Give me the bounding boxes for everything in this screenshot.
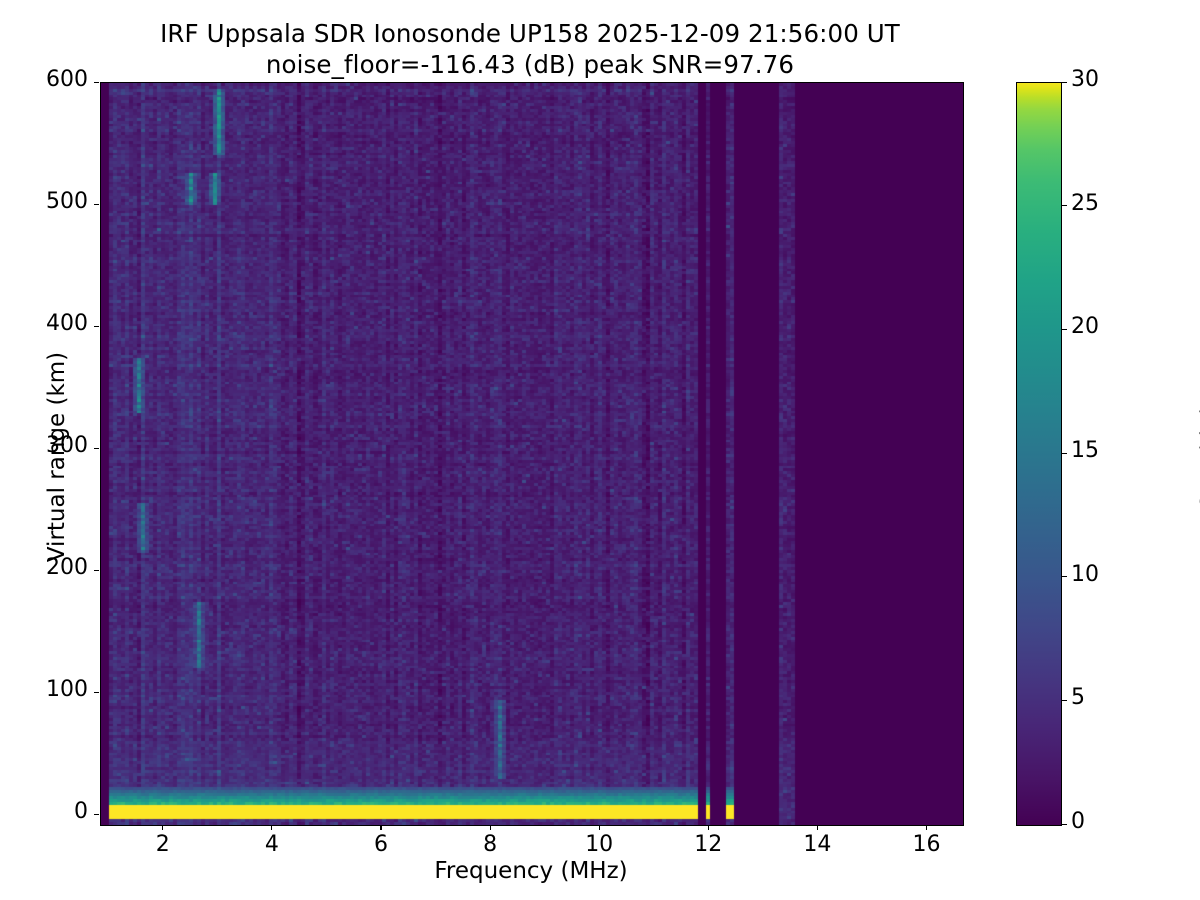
ionogram-axes [100, 82, 964, 826]
colorbar-tick-label: 10 [1071, 562, 1099, 587]
y-tick-mark [94, 814, 99, 815]
colorbar-tick-label: 0 [1071, 809, 1085, 834]
y-tick-label: 600 [0, 67, 88, 92]
x-tick-mark [271, 825, 272, 830]
colorbar-tick-label: 30 [1071, 67, 1099, 92]
title-line-1: IRF Uppsala SDR Ionosonde UP158 2025-12-… [0, 18, 1060, 49]
x-tick-label: 14 [787, 832, 847, 857]
colorbar-tick-label: 15 [1071, 438, 1099, 463]
x-tick-mark [162, 825, 163, 830]
y-tick-mark [94, 692, 99, 693]
x-tick-mark [817, 825, 818, 830]
colorbar-tick-label: 20 [1071, 314, 1099, 339]
colorbar-tick-label: 5 [1071, 685, 1085, 710]
ionogram-figure: IRF Uppsala SDR Ionosonde UP158 2025-12-… [0, 0, 1200, 900]
y-tick-mark [94, 570, 99, 571]
x-tick-mark [708, 825, 709, 830]
snr-colorbar [1016, 82, 1062, 826]
y-tick-mark [94, 448, 99, 449]
x-tick-label: 8 [460, 832, 520, 857]
x-axis-label: Frequency (MHz) [100, 858, 962, 884]
x-tick-mark [926, 825, 927, 830]
colorbar-tick-mark [1062, 576, 1067, 577]
x-tick-mark [490, 825, 491, 830]
y-axis-label: Virtual range (km) [44, 247, 70, 667]
x-tick-label: 6 [351, 832, 411, 857]
y-tick-label: 0 [0, 799, 88, 824]
y-tick-label: 100 [0, 677, 88, 702]
x-tick-label: 2 [133, 832, 193, 857]
x-tick-label: 10 [569, 832, 629, 857]
ionogram-heatmap [101, 83, 963, 825]
x-tick-label: 12 [678, 832, 738, 857]
x-tick-mark [380, 825, 381, 830]
colorbar-tick-mark [1062, 82, 1067, 83]
x-tick-label: 4 [242, 832, 302, 857]
colorbar-tick-mark [1062, 453, 1067, 454]
colorbar-tick-mark [1062, 205, 1067, 206]
colorbar-tick-mark [1062, 329, 1067, 330]
x-tick-mark [599, 825, 600, 830]
title-line-2: noise_floor=-116.43 (dB) peak SNR=97.76 [0, 49, 1060, 80]
y-tick-mark [94, 204, 99, 205]
y-tick-label: 500 [0, 189, 88, 214]
figure-title: IRF Uppsala SDR Ionosonde UP158 2025-12-… [0, 18, 1060, 80]
y-tick-mark [94, 326, 99, 327]
colorbar-tick-mark [1062, 824, 1067, 825]
y-tick-mark [94, 82, 99, 83]
colorbar-tick-label: 25 [1071, 191, 1099, 216]
colorbar-tick-mark [1062, 700, 1067, 701]
x-tick-label: 16 [897, 832, 957, 857]
